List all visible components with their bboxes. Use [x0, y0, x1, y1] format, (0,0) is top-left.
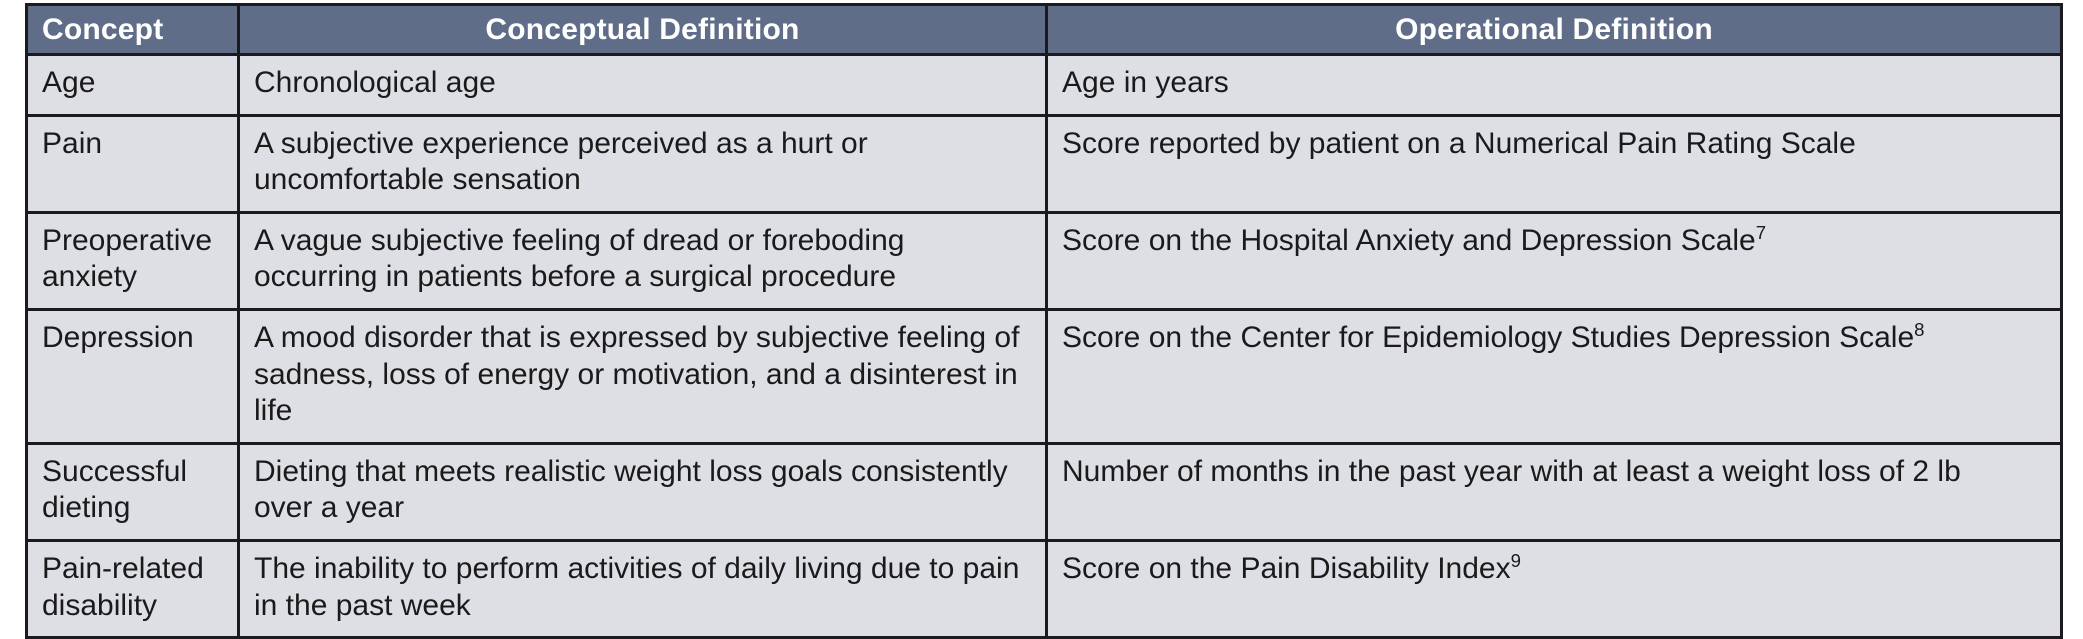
table-row: Depression A mood disorder that is expre… [27, 309, 2062, 443]
cell-conceptual-definition: Dieting that meets realistic weight loss… [239, 443, 1047, 540]
cell-concept: Successful dieting [27, 443, 239, 540]
concept-label: Successful dieting [42, 454, 223, 527]
conceptual-definition-text: A mood disorder that is expressed by sub… [254, 320, 1031, 430]
conceptual-definition-text: Dieting that meets realistic weight loss… [254, 454, 1031, 527]
table-row: Successful dieting Dieting that meets re… [27, 443, 2062, 540]
conceptual-definition-text: A subjective experience perceived as a h… [254, 126, 1031, 199]
concept-label: Depression [42, 320, 223, 357]
conceptual-definition-text: Chronological age [254, 65, 1031, 102]
cell-operational-definition: Score reported by patient on a Numerical… [1047, 115, 2062, 212]
concept-label: Pain [42, 126, 223, 163]
cell-operational-definition: Score on the Center for Epidemiology Stu… [1047, 309, 2062, 443]
concept-label: Preoperative anxiety [42, 223, 223, 296]
table-row: Pain-related disability The inability to… [27, 540, 2062, 637]
conceptual-definition-text: A vague subjective feeling of dread or f… [254, 223, 1031, 296]
concept-label: Age [42, 65, 223, 102]
cell-concept: Pain-related disability [27, 540, 239, 637]
cell-operational-definition: Number of months in the past year with a… [1047, 443, 2062, 540]
cell-concept: Pain [27, 115, 239, 212]
cell-conceptual-definition: A vague subjective feeling of dread or f… [239, 212, 1047, 309]
concept-definitions-table: Concept Conceptual Definition Operationa… [25, 3, 2063, 639]
table-row: Pain A subjective experience perceived a… [27, 115, 2062, 212]
cell-conceptual-definition: The inability to perform activities of d… [239, 540, 1047, 637]
operational-definition-reference: 9 [1511, 550, 1521, 571]
column-header-concept: Concept [27, 5, 239, 55]
cell-concept: Depression [27, 309, 239, 443]
conceptual-definition-text: The inability to perform activities of d… [254, 551, 1031, 624]
definitions-table-container: Concept Conceptual Definition Operationa… [25, 3, 2060, 611]
cell-operational-definition: Age in years [1047, 55, 2062, 116]
table-row: Age Chronological age Age in years [27, 55, 2062, 116]
operational-definition-text: Score reported by patient on a Numerical… [1062, 127, 1856, 160]
operational-definition-reference: 7 [1756, 222, 1766, 243]
table-header: Concept Conceptual Definition Operationa… [27, 5, 2062, 55]
cell-conceptual-definition: Chronological age [239, 55, 1047, 116]
cell-operational-definition: Score on the Pain Disability Index9 [1047, 540, 2062, 637]
table-row: Preoperative anxiety A vague subjective … [27, 212, 2062, 309]
column-header-conceptual-definition: Conceptual Definition [239, 5, 1047, 55]
operational-definition-text: Score on the Center for Epidemiology Stu… [1062, 321, 1914, 354]
operational-definition-reference: 8 [1914, 319, 1924, 340]
cell-concept: Age [27, 55, 239, 116]
operational-definition-text: Number of months in the past year with a… [1062, 455, 1961, 488]
table-header-row: Concept Conceptual Definition Operationa… [27, 5, 2062, 55]
concept-label: Pain-related disability [42, 551, 223, 624]
table-body: Age Chronological age Age in years Pain … [27, 55, 2062, 638]
operational-definition-text: Score on the Pain Disability Index [1062, 552, 1511, 585]
cell-conceptual-definition: A mood disorder that is expressed by sub… [239, 309, 1047, 443]
cell-operational-definition: Score on the Hospital Anxiety and Depres… [1047, 212, 2062, 309]
cell-concept: Preoperative anxiety [27, 212, 239, 309]
column-header-operational-definition: Operational Definition [1047, 5, 2062, 55]
operational-definition-text: Age in years [1062, 66, 1229, 99]
operational-definition-text: Score on the Hospital Anxiety and Depres… [1062, 224, 1756, 257]
cell-conceptual-definition: A subjective experience perceived as a h… [239, 115, 1047, 212]
